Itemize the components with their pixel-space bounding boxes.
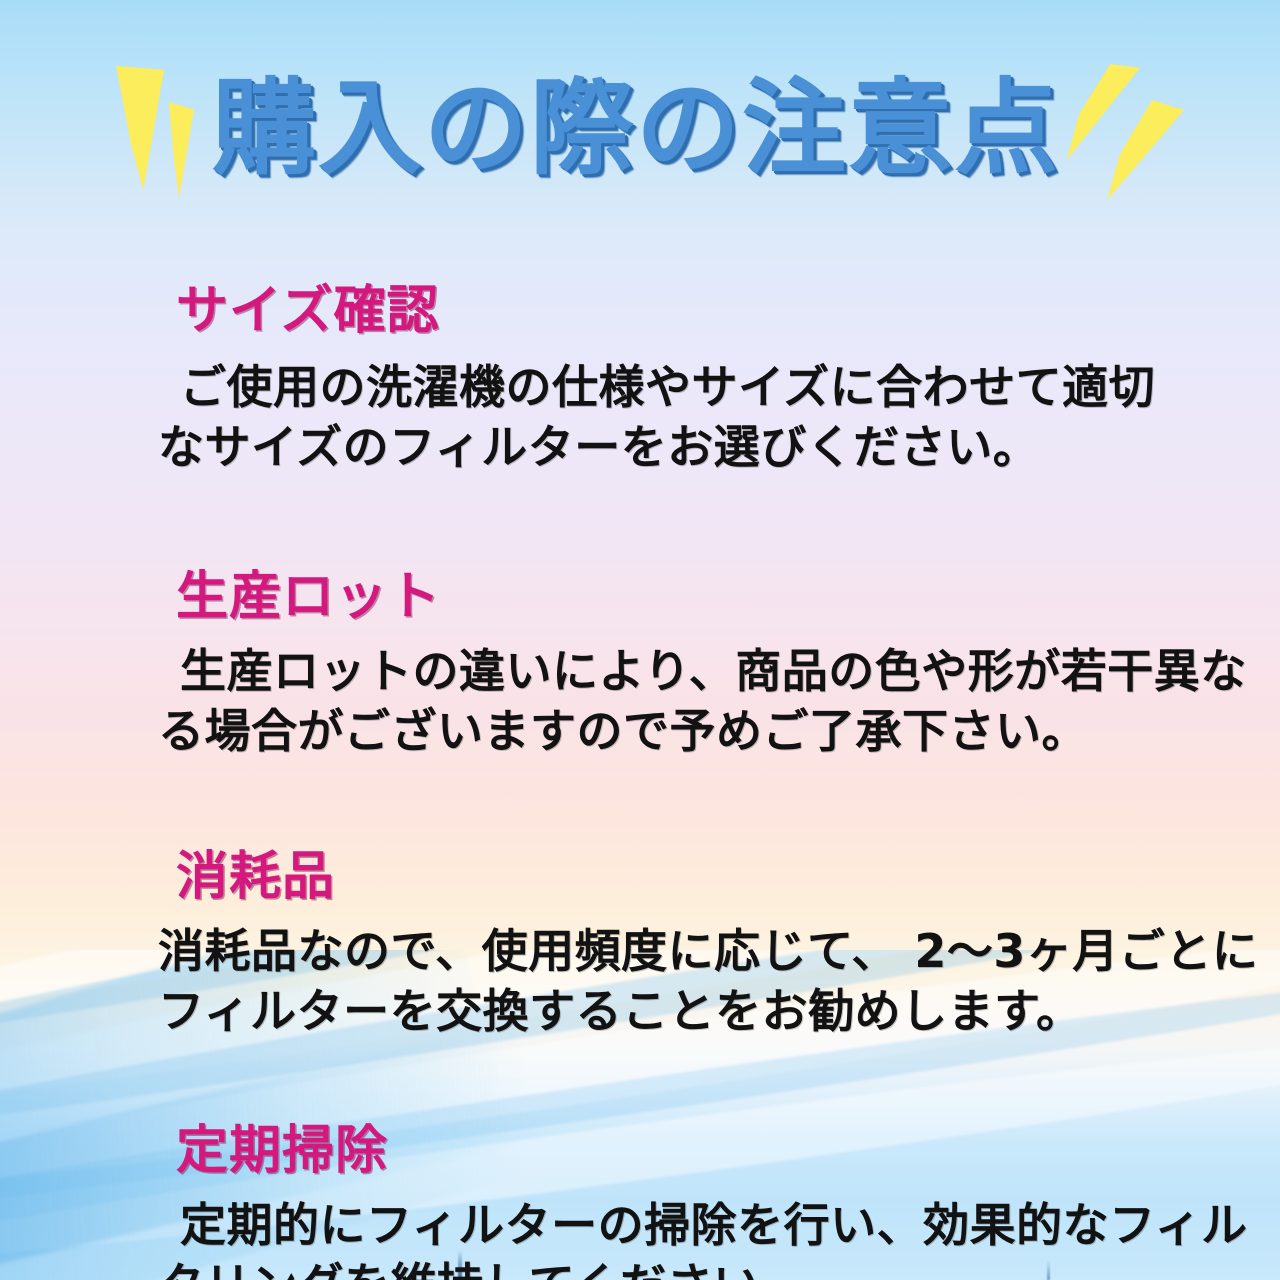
- lightning-bolt-icon: [1104, 100, 1184, 200]
- lightning-bolt-icon: [160, 102, 194, 198]
- body-line: 消耗品なので、使用頻度に応じて、 2〜3ヶ月ごとに: [158, 921, 1170, 982]
- notice-section: 消耗品 消耗品なので、使用頻度に応じて、 2〜3ヶ月ごとに フィルターを交換する…: [0, 850, 1280, 1042]
- section-heading: サイズ確認: [0, 284, 1280, 339]
- body-line: タリングを維持してください。: [158, 1255, 1170, 1280]
- section-heading: 消耗品: [0, 850, 1280, 905]
- right-lightning-bolts: [1060, 58, 1186, 198]
- section-heading: 定期掃除: [0, 1124, 1280, 1179]
- notice-section: 生産ロット 生産ロットの違いにより、商品の色や形が若干異な る場合がございますの…: [0, 570, 1280, 762]
- body-line: る場合がございますので予めご了承下さい。: [158, 701, 1170, 762]
- body-line: ご使用の洗濯機の仕様やサイズに合わせて適切: [158, 357, 1170, 418]
- notice-section: 定期掃除 定期的にフィルターの掃除を行い、効果的なフィル タリングを維持してくだ…: [0, 1124, 1280, 1280]
- page-title: 購入の際の注意点: [212, 76, 1060, 180]
- title-row: 購入の際の注意点: [0, 58, 1280, 198]
- body-line: フィルターを交換することをお勧めします。: [158, 981, 1170, 1042]
- section-body: 定期的にフィルターの掃除を行い、効果的なフィル タリングを維持してください。: [0, 1195, 1280, 1280]
- section-body: 生産ロットの違いにより、商品の色や形が若干異な る場合がございますので予めご了承…: [0, 641, 1280, 762]
- left-lightning-bolts: [94, 58, 212, 198]
- promo-poster: 購入の際の注意点 サイズ確認 ご使用の洗濯機の仕様やサイズに合わせて適切 なサイ…: [0, 0, 1280, 1280]
- section-body: 消耗品なので、使用頻度に応じて、 2〜3ヶ月ごとに フィルターを交換することをお…: [0, 921, 1280, 1042]
- body-line: 生産ロットの違いにより、商品の色や形が若干異な: [158, 641, 1170, 702]
- section-heading: 生産ロット: [0, 570, 1280, 625]
- body-line: なサイズのフィルターをお選びください。: [158, 417, 1170, 478]
- lightning-bolt-icon: [112, 66, 164, 190]
- body-line: 定期的にフィルターの掃除を行い、効果的なフィル: [158, 1195, 1170, 1256]
- section-body: ご使用の洗濯機の仕様やサイズに合わせて適切 なサイズのフィルターをお選びください…: [0, 357, 1280, 478]
- notice-section: サイズ確認 ご使用の洗濯機の仕様やサイズに合わせて適切 なサイズのフィルターをお…: [0, 284, 1280, 478]
- notice-sections: サイズ確認 ご使用の洗濯機の仕様やサイズに合わせて適切 なサイズのフィルターをお…: [0, 284, 1280, 1280]
